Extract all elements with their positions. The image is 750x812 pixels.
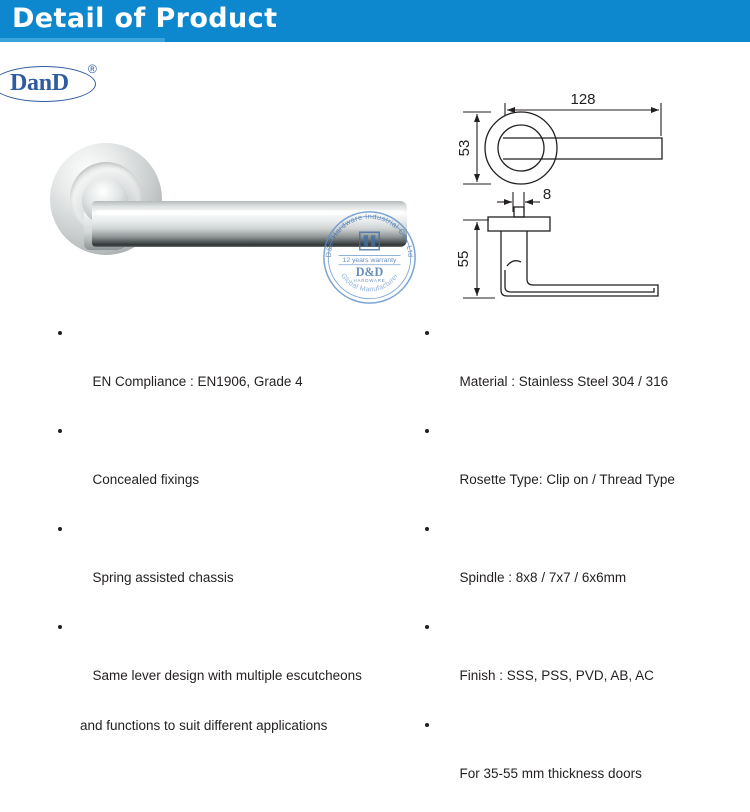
- list-item-label: Concealed fixings: [93, 472, 200, 487]
- list-item: Concealed fixings: [58, 420, 418, 516]
- list-item: Spindle : 8x8 / 7x7 / 6x6mm: [425, 518, 745, 614]
- rosette-plate: [488, 217, 550, 231]
- arrow-top-53: [474, 114, 480, 122]
- seal-warranty-text: 12 years warranty: [343, 257, 398, 264]
- company-watermark-seal: D&D Hardware Industrial Co., Ltd Global …: [321, 209, 418, 306]
- arrow-left-8: [504, 199, 512, 205]
- arrow-top-55: [474, 222, 480, 230]
- brand-logo: DanD ®: [2, 62, 114, 106]
- lever-profile-outer: [501, 258, 658, 296]
- dimension-label-8: 8: [543, 186, 551, 203]
- lever-profile-inner-curve: [507, 261, 521, 266]
- seal-top-arc-text: D&D Hardware Industrial Co., Ltd: [324, 212, 416, 258]
- list-item-label: For 35-55 mm thickness doors: [460, 766, 642, 781]
- dimension-label-128: 128: [570, 91, 595, 108]
- list-item-label: Spindle : 8x8 / 7x7 / 6x6mm: [460, 570, 627, 585]
- bullet-icon: [425, 331, 429, 335]
- list-item: Spring assisted chassis: [58, 518, 418, 614]
- bullet-icon: [58, 625, 62, 629]
- registered-trademark-icon: ®: [88, 62, 97, 76]
- watermark-svg: D&D Hardware Industrial Co., Ltd Global …: [321, 209, 418, 306]
- arrow-right-128: [651, 107, 659, 113]
- bullet-icon: [58, 331, 62, 335]
- technical-drawings: 128 53 8: [455, 80, 750, 310]
- bullet-icon: [425, 527, 429, 531]
- list-item-label: Spring assisted chassis: [93, 570, 234, 585]
- bullet-icon: [58, 429, 62, 433]
- list-item-label: Rosette Type: Clip on / Thread Type: [460, 472, 675, 487]
- lever-bar-outline: [503, 138, 662, 159]
- page-title: Detail of Product: [12, 3, 277, 34]
- seal-emblem-icon: [360, 232, 379, 249]
- list-item-label: Finish : SSS, PSS, PVD, AB, AC: [460, 668, 654, 683]
- spindle-stub: [514, 207, 524, 217]
- page-header-bar: Detail of Product: [0, 0, 750, 42]
- list-item-continuation: and functions to suit different applicat…: [58, 714, 418, 738]
- arrow-bottom-55: [474, 288, 480, 296]
- list-item-label: Same lever design with multiple escutche…: [93, 668, 362, 683]
- arrow-bottom-53: [474, 174, 480, 182]
- dimension-8: [497, 192, 540, 212]
- list-item: For 35-55 mm thickness doors: [425, 714, 745, 810]
- feature-list-right: Material : Stainless Steel 304 / 316 Ros…: [425, 322, 745, 812]
- feature-list-left: EN Compliance : EN1906, Grade 4 Conceale…: [58, 322, 418, 738]
- dimension-label-55: 55: [455, 251, 472, 268]
- side-elevation-drawing: [488, 207, 658, 296]
- list-item: Material : Stainless Steel 304 / 316: [425, 322, 745, 418]
- arrow-left-128: [507, 107, 515, 113]
- arrow-right-8: [525, 199, 533, 205]
- bullet-icon: [425, 723, 429, 727]
- rosette-outer-circle: [485, 112, 557, 184]
- list-item: EN Compliance : EN1906, Grade 4: [58, 322, 418, 418]
- rosette-inner-circle: [498, 125, 544, 171]
- list-item: Rosette Type: Clip on / Thread Type: [425, 420, 745, 516]
- logo-text: DanD: [10, 70, 69, 97]
- bullet-icon: [425, 429, 429, 433]
- seal-brand-sub-text: HARDWARE: [353, 278, 385, 283]
- bullet-icon: [425, 625, 429, 629]
- dimension-label-53: 53: [456, 140, 473, 157]
- bullet-icon: [58, 527, 62, 531]
- list-item-label: Material : Stainless Steel 304 / 316: [460, 374, 669, 389]
- list-item: Finish : SSS, PSS, PVD, AB, AC: [425, 616, 745, 712]
- list-item: Same lever design with multiple escutche…: [58, 616, 418, 712]
- seal-brand-text: D&D: [356, 265, 384, 279]
- technical-drawings-svg: 128 53 8: [455, 80, 750, 310]
- front-elevation-drawing: [485, 112, 662, 184]
- list-item-label: EN Compliance : EN1906, Grade 4: [93, 374, 303, 389]
